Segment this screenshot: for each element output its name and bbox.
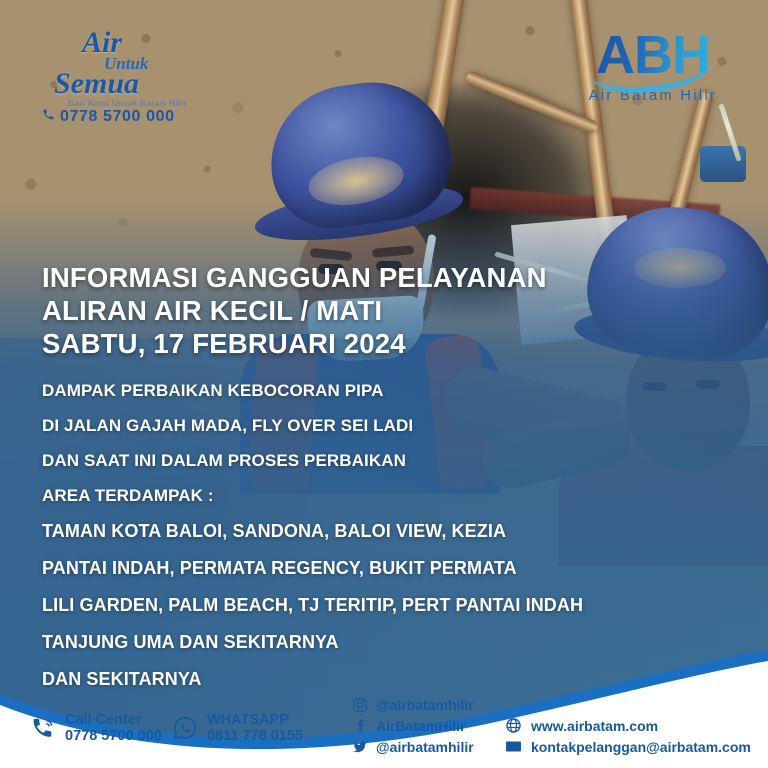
- area-line-2: PANTAI INDAH, PERMATA REGENCY, BUKIT PER…: [42, 558, 708, 578]
- social-links: @airbatamhilir AirBatamHilir: [352, 694, 474, 757]
- logo-word-semua: Semua: [54, 67, 139, 101]
- headline-line-2: ALIRAN AIR KECIL / MATI: [42, 295, 708, 326]
- poster: Air Untuk Semua Dari Kami Untuk Batam Hi…: [0, 0, 768, 768]
- whatsapp-number[interactable]: 0811 778 0155: [207, 728, 303, 744]
- area-line-1: TAMAN KOTA BALOI, SANDONA, BALOI VIEW, K…: [42, 521, 708, 541]
- instagram-link[interactable]: @airbatamhilir: [352, 694, 474, 715]
- area-line-3: LILI GARDEN, PALM BEACH, TJ TERITIP, PER…: [42, 595, 708, 615]
- email-address: kontakpelanggan@airbatam.com: [531, 739, 751, 755]
- body-line-1: DAMPAK PERBAIKAN KEBOCORAN PIPA: [42, 381, 708, 400]
- footer-contact-bar: Call Center 0778 5700 000 WHATSAPP 0811 …: [0, 690, 768, 768]
- website-link[interactable]: www.airbatam.com: [505, 715, 751, 736]
- headline: INFORMASI GANGGUAN PELAYANAN ALIRAN AIR …: [42, 262, 708, 359]
- email-link[interactable]: kontakpelanggan@airbatam.com: [505, 736, 751, 757]
- mail-icon: [505, 738, 522, 755]
- whatsapp-label: WHATSAPP: [207, 712, 303, 728]
- globe-icon: [505, 717, 522, 734]
- abh-logo: ABH Air Batam Hilir: [578, 26, 728, 102]
- announcement-content: INFORMASI GANGGUAN PELAYANAN ALIRAN AIR …: [42, 262, 708, 706]
- twitter-link[interactable]: @airbatamhilir: [352, 736, 474, 757]
- body-line-3: DAN SAAT INI DALAM PROSES PERBAIKAN: [42, 451, 708, 470]
- facebook-handle: AirBatamHilir: [376, 718, 465, 734]
- contact-links: www.airbatam.com kontakpelanggan@airbata…: [505, 715, 751, 757]
- whatsapp-icon: [172, 715, 198, 741]
- call-center-number[interactable]: 0778 5700 000: [65, 728, 162, 744]
- twitter-handle: @airbatamhilir: [376, 739, 474, 755]
- affected-areas-label: AREA TERDAMPAK :: [42, 486, 708, 505]
- logo-tagline: Dari Kami Untuk Batam Hilir: [68, 98, 187, 108]
- website-url: www.airbatam.com: [531, 718, 658, 734]
- call-center-block[interactable]: Call Center 0778 5700 000: [30, 712, 162, 744]
- body-text: DAMPAK PERBAIKAN KEBOCORAN PIPA DI JALAN…: [42, 381, 708, 505]
- twitter-icon: [352, 739, 368, 755]
- facebook-icon: [352, 718, 368, 734]
- body-line-2: DI JALAN GAJAH MADA, FLY OVER SEI LADI: [42, 416, 708, 435]
- facebook-link[interactable]: AirBatamHilir: [352, 715, 474, 736]
- headline-line-3: SABTU, 17 FEBRUARI 2024: [42, 328, 708, 359]
- call-center-label: Call Center: [65, 712, 162, 728]
- logo-phone-number: 0778 5700 000: [60, 108, 175, 126]
- area-line-4: TANJUNG UMA DAN SEKITARNYA: [42, 632, 708, 652]
- headline-line-1: INFORMASI GANGGUAN PELAYANAN: [42, 262, 708, 293]
- instagram-handle: @airbatamhilir: [376, 697, 474, 713]
- phone-ring-icon: [30, 715, 56, 741]
- air-untuk-semua-logo: Air Untuk Semua Dari Kami Untuk Batam Hi…: [44, 24, 224, 110]
- instagram-icon: [352, 697, 368, 713]
- phone-icon: [42, 108, 55, 124]
- whatsapp-block[interactable]: WHATSAPP 0811 778 0155: [172, 712, 303, 744]
